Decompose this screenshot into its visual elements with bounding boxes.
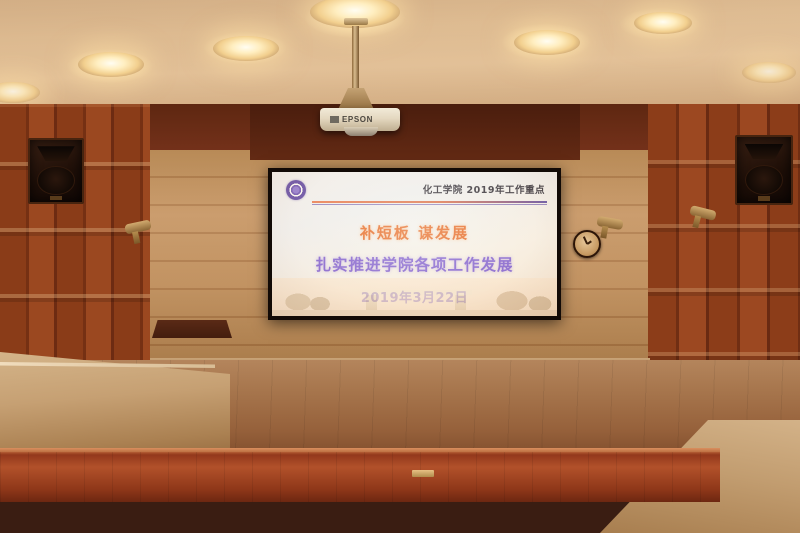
slide-divider-rule-secondary <box>312 204 547 205</box>
left-wall-speaker <box>28 138 84 204</box>
projector-ceiling-bracket <box>344 18 368 25</box>
slide-header-text: 化工学院 2019年工作重点 <box>423 182 545 196</box>
university-seal-logo <box>286 180 306 200</box>
speaker-badge <box>758 196 771 201</box>
lectern-top <box>152 320 232 338</box>
slide-campus-photo <box>272 278 557 316</box>
screen-header-soffit <box>250 104 580 160</box>
ceiling-downlight-icon <box>634 12 692 34</box>
wall-clock <box>573 230 601 258</box>
conference-hall-photo: EPSON 化工学院 2019年工作重点 补短板 谋发展 扎实推进学院各项工作发… <box>0 0 800 533</box>
speaker-cone-icon <box>37 166 74 195</box>
projector-lens-icon <box>344 127 378 136</box>
clock-minute-hand <box>583 236 588 244</box>
ceiling-downlight-icon <box>78 52 144 77</box>
projection-screen: 化工学院 2019年工作重点 补短板 谋发展 扎实推进学院各项工作发展 2019… <box>272 172 557 316</box>
right-wall-speaker <box>735 135 793 205</box>
speaker-badge <box>50 196 62 200</box>
lectern-body <box>157 337 227 425</box>
speaker-horn-icon <box>37 146 74 161</box>
stage-riser-front <box>0 452 720 502</box>
ceiling-downlight-icon <box>742 62 796 83</box>
speaker-cone-icon <box>745 165 784 195</box>
ceiling-downlight-icon <box>514 30 580 55</box>
ceiling-downlight-icon <box>213 36 279 61</box>
slide-title-line2: 扎实推进学院各项工作发展 <box>272 253 557 275</box>
speaker-horn-icon <box>745 144 784 160</box>
photo-ground <box>272 310 557 316</box>
photo-campus-gate <box>360 290 472 312</box>
projection-screen-frame: 化工学院 2019年工作重点 补短板 谋发展 扎实推进学院各项工作发展 2019… <box>268 168 561 320</box>
projector-brand-label: EPSON <box>342 115 373 124</box>
projector-brand-row: EPSON <box>330 115 373 124</box>
projector-logo-icon <box>330 116 339 123</box>
stage-floor-plate <box>412 470 434 477</box>
slide-title-line1: 补短板 谋发展 <box>272 222 557 243</box>
